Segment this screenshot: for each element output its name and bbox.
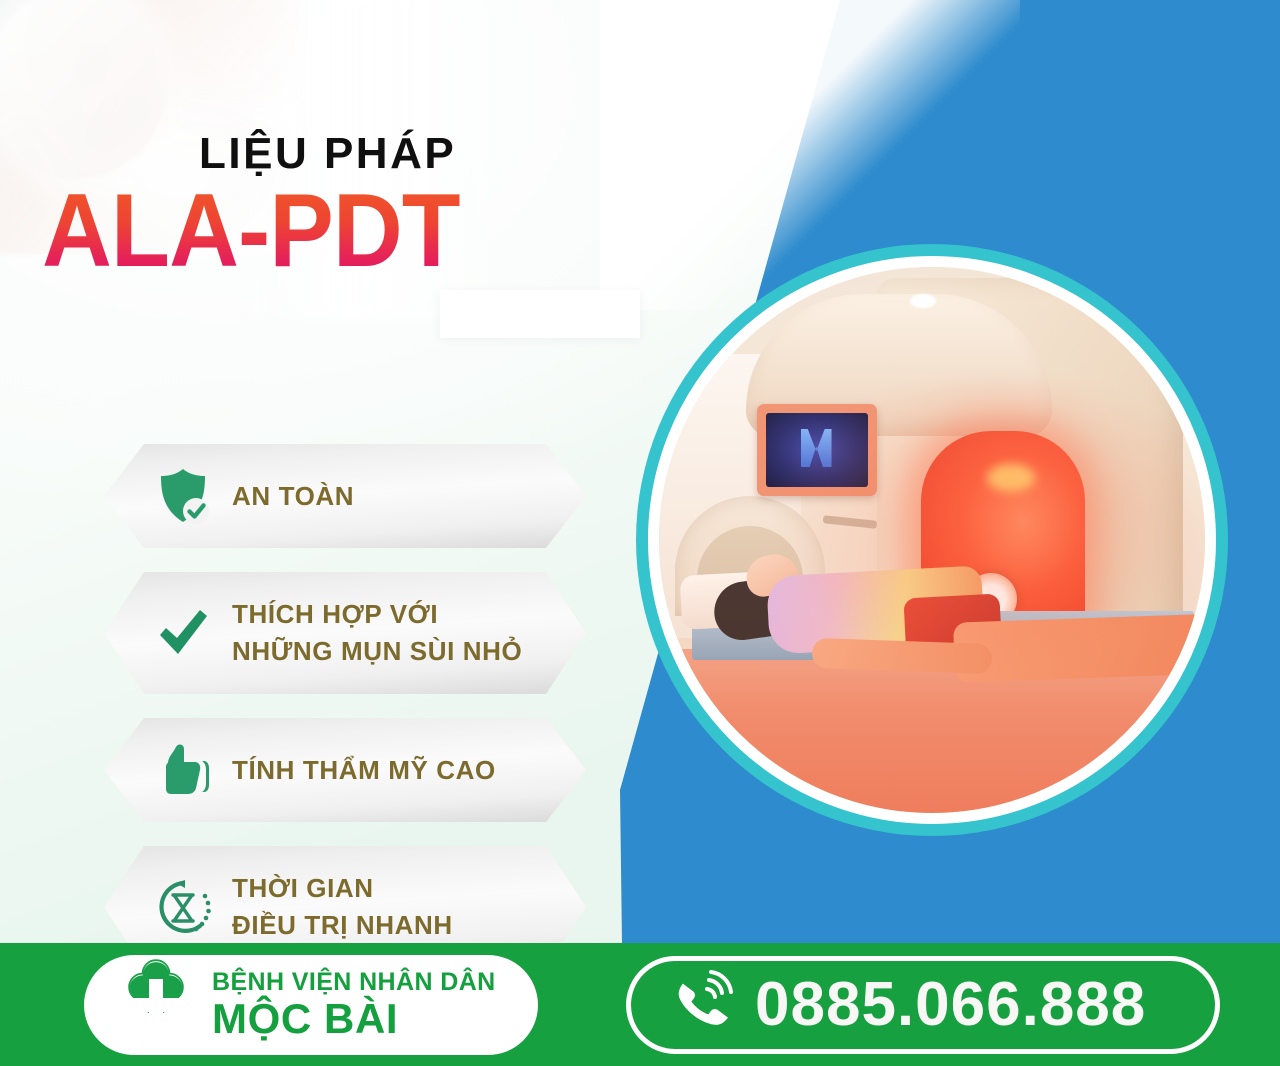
headline-kicker: LIỆU PHÁP — [199, 132, 662, 176]
feature-item-safety[interactable]: AN TOÀN — [104, 444, 586, 548]
phone-number: 0885.066.888 — [755, 974, 1146, 1036]
headline-main-title: ALA-PDT — [42, 178, 460, 284]
feature-label: TÍNH THẨM MỸ CAO — [232, 752, 496, 789]
hospital-cross-logo — [110, 959, 202, 1051]
feature-list: AN TOÀN THÍCH HỢP VỚI NHỮNG MỤN SÙI NHỎ — [104, 444, 590, 992]
shield-check-icon — [150, 460, 216, 532]
phone-cta-pill[interactable]: 0885.066.888 — [626, 956, 1220, 1054]
photo-patient-legs — [953, 611, 1216, 682]
headline-white-band — [440, 290, 640, 338]
phone-ringing-icon — [665, 967, 741, 1043]
therapy-photo — [648, 256, 1216, 824]
feature-item-aesthetics[interactable]: TÍNH THẨM MỸ CAO — [104, 718, 586, 822]
hospital-name-block: BỆNH VIỆN NHÂN DÂN MỘC BÀI — [212, 970, 496, 1040]
footer-contact-bar: BỆNH VIỆN NHÂN DÂN MỘC BÀI 0885.066.888 — [0, 943, 1280, 1066]
hospital-name-line1: BỆNH VIỆN NHÂN DÂN — [212, 970, 496, 995]
thumbs-up-icon — [150, 734, 216, 806]
photo-red-glow — [987, 464, 1035, 492]
feature-label: THỜI GIAN ĐIỀU TRỊ NHANH — [232, 870, 453, 944]
hospital-identity-pill[interactable]: BỆNH VIỆN NHÂN DÂN MỘC BÀI — [84, 955, 538, 1055]
photo-monitor — [757, 404, 877, 496]
fast-time-hourglass-icon — [150, 871, 216, 943]
therapy-photo-scene — [659, 267, 1205, 813]
photo-monitor-screen — [766, 413, 868, 487]
check-mark-icon — [150, 597, 216, 669]
headline-block: LIỆU PHÁP ALA-PDT — [42, 132, 662, 288]
photo-patient-arm — [811, 638, 992, 674]
headline-main-wrap: ALA-PDT — [42, 178, 662, 288]
feature-label: THÍCH HỢP VỚI NHỮNG MỤN SÙI NHỎ — [232, 596, 522, 670]
hospital-name-line2: MỘC BÀI — [212, 998, 496, 1040]
feature-item-suitable[interactable]: THÍCH HỢP VỚI NHỮNG MỤN SÙI NHỎ — [104, 572, 586, 694]
feature-label: AN TOÀN — [232, 478, 354, 515]
therapy-photo-ring — [636, 244, 1228, 836]
poster-canvas: LIỆU PHÁP ALA-PDT AN TOÀN — [0, 0, 1280, 1066]
